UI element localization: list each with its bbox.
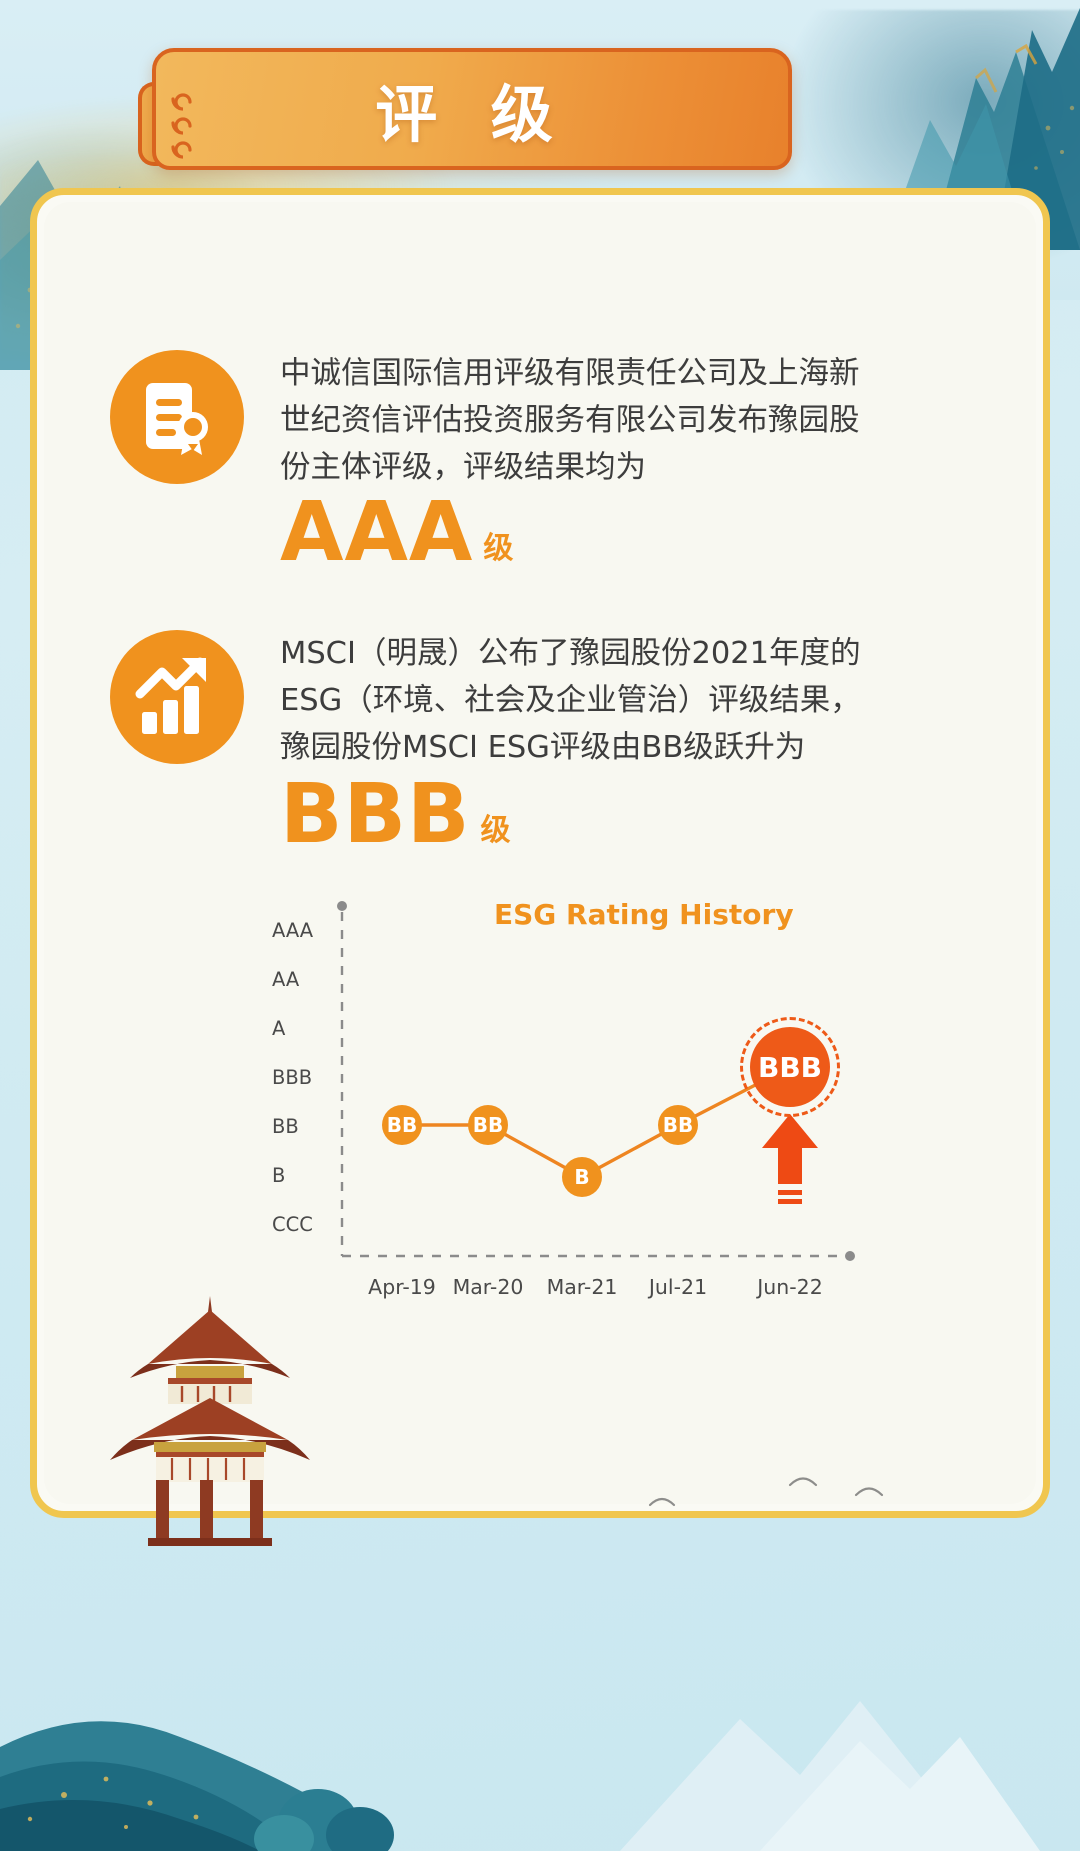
certificate-icon (110, 350, 244, 484)
esg-rating-text: MSCI（明晟）公布了豫园股份2021年度的 ESG（环境、社会及企业管治）评级… (280, 630, 845, 771)
header-banner: 评 级 (152, 48, 792, 170)
pagoda-illustration (60, 1290, 360, 1550)
credit-rating-grade: AAA (280, 485, 473, 580)
esg-line-3: 豫园股份MSCI ESG评级由BB级跃升为 (280, 724, 845, 771)
infographic-page: 评 级 中诚信国际信用评级有限责任公司及上海新 世纪资信 (0, 0, 1080, 1851)
page-title: 评 级 (156, 64, 788, 154)
data-point-apr-19[interactable]: BB (382, 1105, 422, 1145)
esg-rating-history-chart: ESG Rating History AAA AA A BBB BB B CCC… (272, 890, 872, 1300)
esg-rating-grade: BBB (280, 767, 471, 862)
credit-rating-suffix: 级 (483, 531, 514, 566)
esg-line-2: ESG（环境、社会及企业管治）评级结果， (280, 677, 845, 724)
esg-line-1: MSCI（明晟）公布了豫园股份2021年度的 (280, 630, 845, 677)
rating-block-esg: MSCI（明晟）公布了豫园股份2021年度的 ESG（环境、社会及企业管治）评级… (110, 630, 845, 771)
cloud-swirl-icon (160, 92, 204, 164)
credit-line-3: 份主体评级，评级结果均为 (280, 444, 845, 491)
credit-line-2: 世纪资信评估投资服务有限公司发布豫园股 (280, 397, 845, 444)
esg-rating-suffix: 级 (481, 813, 512, 848)
birds-illustration (640, 1471, 900, 1561)
esg-rating-value: BBB级 (280, 774, 512, 874)
growth-chart-icon (110, 630, 244, 764)
up-arrow-icon (758, 1112, 828, 1212)
data-point-jul-21[interactable]: BB (658, 1105, 698, 1145)
credit-rating-value: AAA级 (280, 492, 514, 592)
data-point-mar-21[interactable]: B (562, 1157, 602, 1197)
banner-body: 评 级 (152, 48, 792, 170)
credit-rating-text: 中诚信国际信用评级有限责任公司及上海新 世纪资信评估投资服务有限公司发布豫园股 … (280, 350, 845, 491)
bottom-scenery (0, 1551, 1080, 1851)
data-point-mar-20[interactable]: BB (468, 1105, 508, 1145)
rating-block-credit: 中诚信国际信用评级有限责任公司及上海新 世纪资信评估投资服务有限公司发布豫园股 … (110, 350, 845, 491)
data-point-jun-22[interactable]: BBB (750, 1027, 830, 1107)
credit-line-1: 中诚信国际信用评级有限责任公司及上海新 (280, 350, 845, 397)
